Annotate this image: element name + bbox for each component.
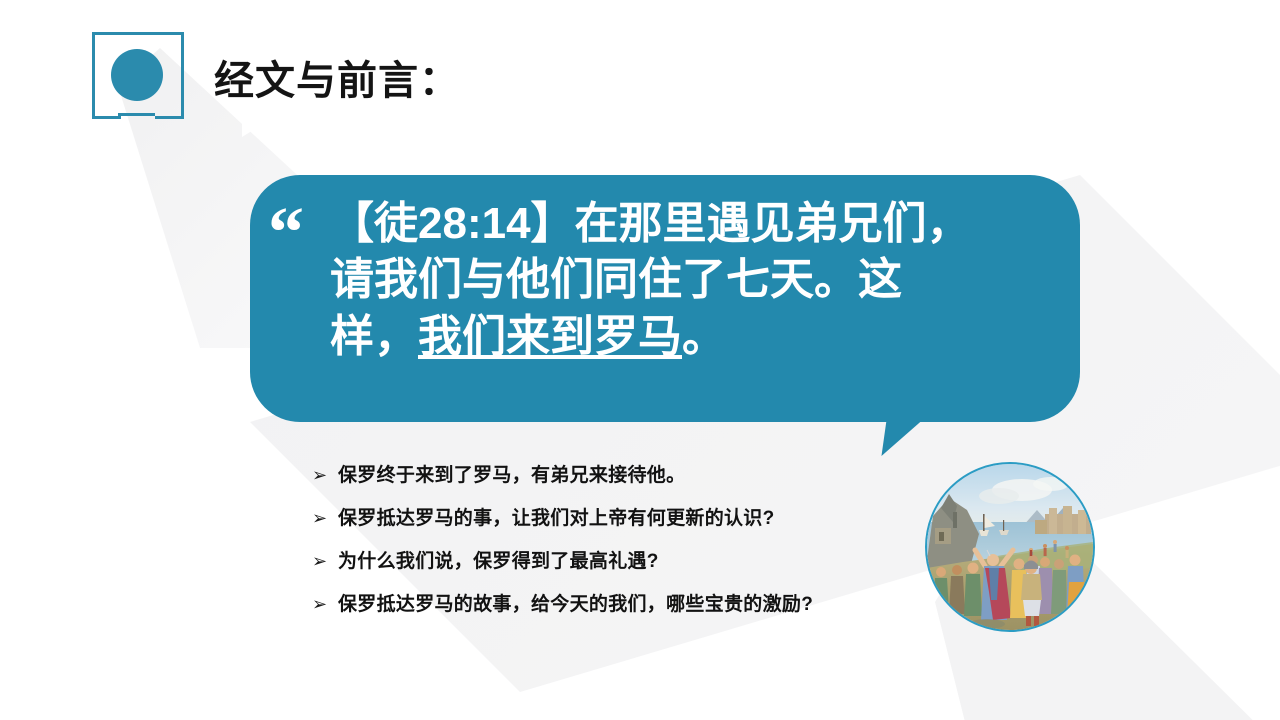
list-item: ➢ 保罗抵达罗马的故事，给今天的我们，哪些宝贵的激励?	[312, 592, 912, 618]
quote-line-3-prefix: 样，	[330, 312, 418, 361]
list-item: ➢ 保罗抵达罗马的事，让我们对上帝有何更新的认识?	[312, 506, 912, 532]
illustration-image	[925, 462, 1095, 632]
list-item-label: 保罗终于来到了罗马，有弟兄来接待他。	[338, 463, 685, 489]
arrow-bullet-icon: ➢	[312, 463, 338, 489]
frame-segment-right	[181, 58, 184, 90]
arrow-bullet-icon: ➢	[312, 506, 338, 532]
quote-line-3-suffix: 。	[682, 312, 726, 361]
play-icon	[111, 49, 163, 101]
bullet-list: ➢ 保罗终于来到了罗马，有弟兄来接待他。 ➢ 保罗抵达罗马的事，让我们对上帝有何…	[312, 463, 912, 635]
page-title: 经文与前言：	[214, 48, 460, 106]
quote-line-1: 【徒28:14】在那里遇见弟兄们，	[330, 196, 1050, 252]
arrow-bullet-icon: ➢	[312, 549, 338, 575]
quote-line-3-underlined: 我们来到罗马	[418, 312, 682, 361]
frame-corner-top-right	[155, 32, 184, 61]
quote-bubble-tail	[881, 420, 922, 456]
frame-segment-bottom	[118, 113, 155, 116]
slide-header: 经文与前言：	[0, 0, 1280, 150]
frame-corner-top-left	[92, 32, 121, 61]
play-triangle-glyph	[242, 111, 263, 137]
list-item: ➢ 保罗终于来到了罗马，有弟兄来接待他。	[312, 463, 912, 489]
harbor-scene-graphic	[927, 464, 1093, 630]
quote-line-3: 样，我们来到罗马。	[330, 309, 1050, 365]
quote-text: 【徒28:14】在那里遇见弟兄们， 请我们与他们同住了七天。这 样，我们来到罗马…	[330, 196, 1050, 365]
frame-corner-bottom-right	[155, 90, 184, 119]
frame-segment-top	[118, 32, 155, 35]
frame-segment-left	[92, 58, 95, 90]
frame-corner-bottom-left	[92, 90, 121, 119]
list-item-label: 保罗抵达罗马的事，让我们对上帝有何更新的认识?	[338, 506, 775, 532]
quote-line-2: 请我们与他们同住了七天。这	[330, 252, 1050, 308]
list-item: ➢ 为什么我们说，保罗得到了最高礼遇?	[312, 549, 912, 575]
list-item-label: 保罗抵达罗马的故事，给今天的我们，哪些宝贵的激励?	[338, 592, 813, 618]
slide-canvas: 经文与前言： “ 【徒28:14】在那里遇见弟兄们， 请我们与他们同住了七天。这…	[0, 0, 1280, 720]
open-quote-icon: “	[268, 196, 304, 268]
list-item-label: 为什么我们说，保罗得到了最高礼遇?	[338, 549, 659, 575]
arrow-bullet-icon: ➢	[312, 592, 338, 618]
